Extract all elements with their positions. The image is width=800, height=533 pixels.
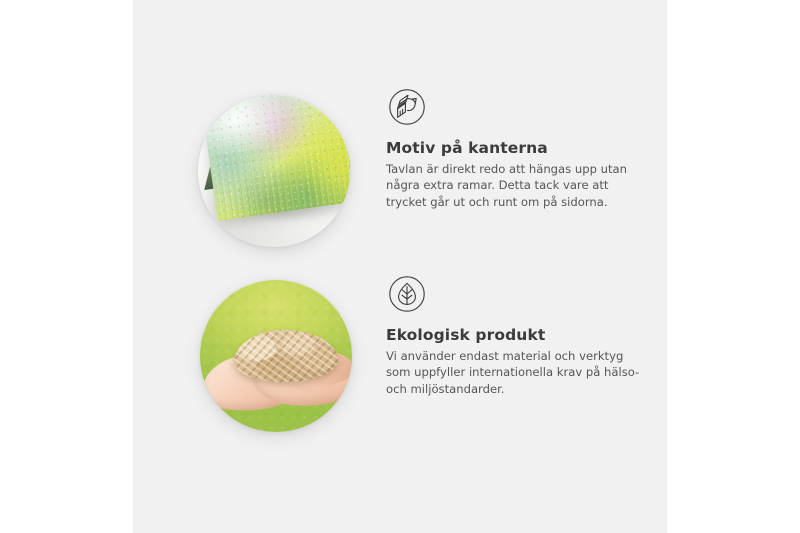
feature-text-column: Ekologisk produkt Vi använder endast mat… [386, 273, 661, 398]
canvas-photo-scene [198, 95, 350, 247]
feature-block-ekologisk-produkt: Ekologisk produkt Vi använder endast mat… [133, 263, 667, 448]
feature-title: Motiv på kanterna [386, 139, 661, 158]
canvas-print-corner-photo [198, 95, 350, 247]
feature-text-column: Motiv på kanterna Tavlan är direkt redo … [386, 86, 661, 211]
canvas-print-face [200, 95, 350, 221]
eco-photo-scene [200, 280, 352, 432]
wood-chips [234, 330, 338, 382]
product-feature-banner: Motiv på kanterna Tavlan är direkt redo … [0, 0, 800, 533]
feature-title: Ekologisk produkt [386, 326, 661, 345]
feature-description: Vi använder endast material och verktyg … [386, 348, 648, 398]
feature-description: Tavlan är direkt redo att hängas upp uta… [386, 161, 648, 211]
leaf-icon [386, 273, 428, 315]
feature-block-motiv-pa-kanterna: Motiv på kanterna Tavlan är direkt redo … [133, 78, 667, 263]
hands-holding-wood-chips-photo [200, 280, 352, 432]
canvas-wrapped-edge-icon [386, 86, 428, 128]
